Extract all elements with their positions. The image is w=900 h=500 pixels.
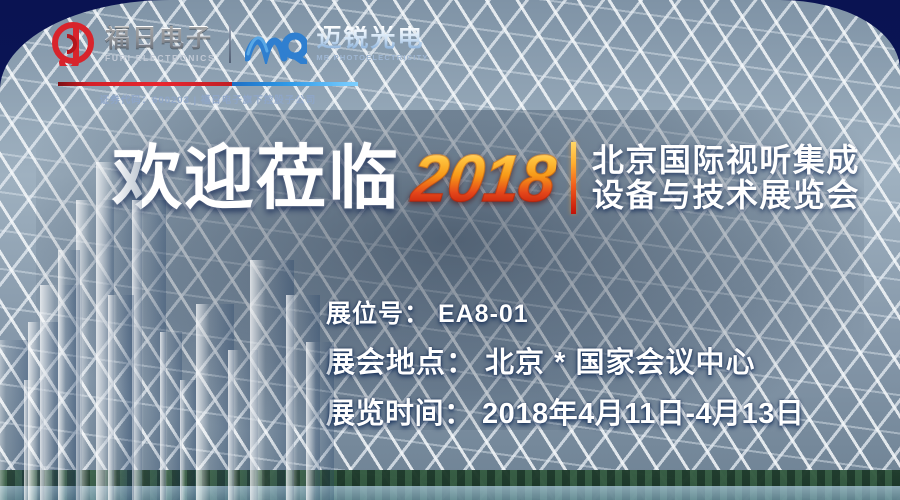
furi-logo-icon — [52, 22, 96, 66]
furi-logo[interactable]: 福日电子 FURI ELECTRONICS — [52, 22, 215, 66]
header-rule — [58, 82, 358, 86]
exhibition-dates: 展览时间： 2018年4月11日-4月13日 — [326, 390, 804, 432]
mr-name-en: MR PHOTOELECTRICITY — [316, 54, 428, 62]
furi-name-en: FURI ELECTRONICS — [105, 54, 215, 63]
mr-logo[interactable]: 迈锐光电 MR PHOTOELECTRICITY — [245, 24, 428, 64]
venue: 展会地点： 北京 * 国家会议中心 — [326, 339, 804, 381]
stock-code-note: 证券代码：600203 | 福日电子旗下控股子公司 — [58, 92, 358, 106]
booth-number: 展位号： EA8-01 — [326, 294, 804, 330]
logo-group: 福日电子 FURI ELECTRONICS 迈锐光电 MR PHOTOEL — [52, 22, 429, 66]
gold-divider-bar — [571, 142, 576, 214]
event-name-line2: 设备与技术展览会 — [592, 178, 860, 213]
event-name: 北京国际视听集成 设备与技术展览会 — [592, 143, 860, 212]
exhibition-banner: 福日电子 FURI ELECTRONICS 迈锐光电 MR PHOTOEL — [0, 0, 900, 500]
event-name-line1: 北京国际视听集成 — [592, 143, 860, 178]
year-text: 2018 — [409, 145, 559, 211]
headline-group: 欢迎莅临 2018 北京国际视听集成 设备与技术展览会 — [112, 142, 860, 214]
event-info: 展位号： EA8-01 展会地点： 北京 * 国家会议中心 展览时间： 2018… — [326, 294, 804, 432]
brand-divider — [229, 25, 231, 63]
brand-header: 福日电子 FURI ELECTRONICS 迈锐光电 MR PHOTOEL — [0, 0, 900, 122]
mr-name-cn: 迈锐光电 — [316, 26, 428, 51]
furi-name-cn: 福日电子 — [105, 26, 215, 51]
mr-logo-icon — [245, 24, 307, 64]
